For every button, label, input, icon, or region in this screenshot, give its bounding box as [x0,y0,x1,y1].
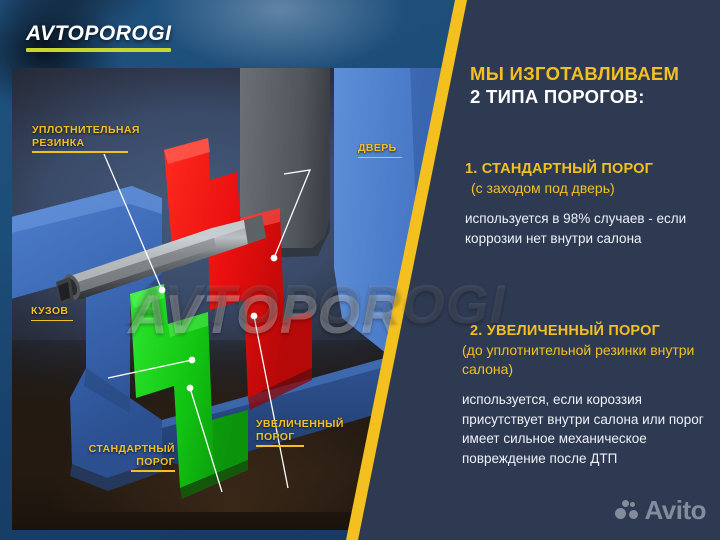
callout-door-rule [358,157,402,159]
sill-type-1-title: 1. СТАНДАРТНЫЙ ПОРОГ [465,160,717,179]
panel-heading: МЫ ИЗГОТАВЛИВАЕМ 2 ТИПА ПОРОГОВ: [470,62,720,108]
callout-standard-rule [131,470,175,472]
sill-type-2-subtitle: (до уплотнительной резинки внутри салона… [462,341,720,379]
sill-type-2-body: используется, если короззия присутствует… [462,390,720,468]
sill-type-1-body: используется в 98% случаев - если корроз… [465,209,717,248]
callout-body-line1: КУЗОВ [31,305,73,318]
sill-type-2-title: 2. УВЕЛИЧЕННЫЙ ПОРОГ [462,322,720,341]
diagram-stage: AVTOPOROGI УПЛОТНИТЕЛЬНАЯ РЕЗИНКА ДВЕРЬ … [0,0,470,540]
callout-seal-rule [32,151,128,153]
heading-line-2: 2 ТИПА ПОРОГОВ: [470,85,720,108]
info-panel: МЫ ИЗГОТАВЛИВАЕМ 2 ТИПА ПОРОГОВ: 1. СТАН… [437,0,720,540]
brand-logo-underline [26,48,171,52]
callout-body: КУЗОВ [31,305,73,321]
sill-type-1: 1. СТАНДАРТНЫЙ ПОРОГ (с заходом под двер… [465,160,717,248]
callout-door: ДВЕРЬ [358,142,402,158]
callout-extended-line1: УВЕЛИЧЕННЫЙ [256,418,344,431]
callout-extended-rule [256,445,304,447]
callout-standard-line2: ПОРОГ [85,456,175,469]
avito-wordmark: Avito [644,495,706,526]
avito-watermark: Avito [615,495,706,526]
callout-extended: УВЕЛИЧЕННЫЙ ПОРОГ [256,418,344,447]
sill-type-1-subtitle: (с заходом под дверь) [465,179,717,198]
callout-body-rule [31,320,73,322]
callout-standard: СТАНДАРТНЫЙ ПОРОГ [85,443,175,472]
callout-seal-line1: УПЛОТНИТЕЛЬНАЯ [32,124,140,137]
callout-standard-line1: СТАНДАРТНЫЙ [85,443,175,456]
avito-logo-icon [615,500,639,522]
heading-line-1: МЫ ИЗГОТАВЛИВАЕМ [470,62,720,85]
brand-logo: AVTOPOROGI [26,22,171,52]
brand-logo-text: AVTOPOROGI [26,22,171,46]
callout-seal: УПЛОТНИТЕЛЬНАЯ РЕЗИНКА [32,124,140,153]
sill-type-2: 2. УВЕЛИЧЕННЫЙ ПОРОГ (до уплотнительной … [462,322,720,468]
callout-extended-line2: ПОРОГ [256,431,344,444]
advert-image: AVTOPOROGI УПЛОТНИТЕЛЬНАЯ РЕЗИНКА ДВЕРЬ … [0,0,720,540]
callout-seal-line2: РЕЗИНКА [32,137,140,150]
callout-door-line1: ДВЕРЬ [358,142,402,155]
